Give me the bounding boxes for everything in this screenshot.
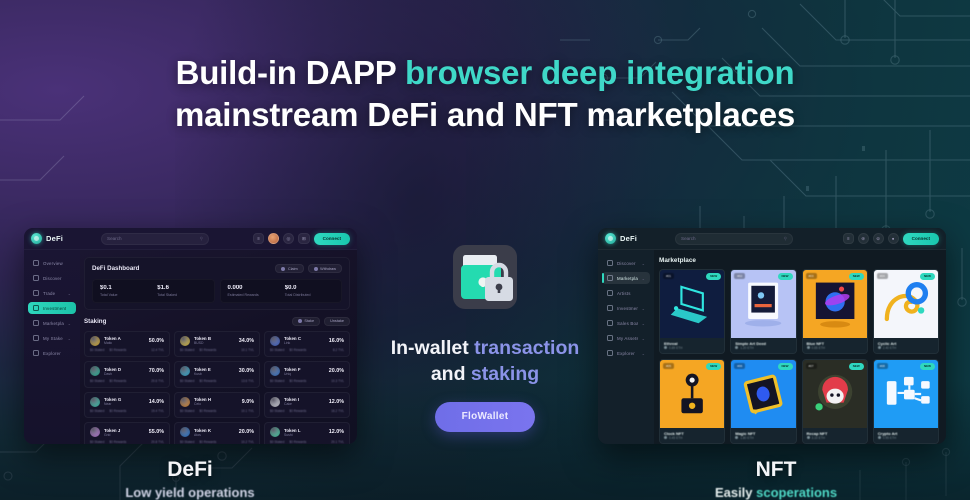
nft-card-grid: #01NEWEthreal0.89 ETH#02NEWSimple Art De… (659, 269, 939, 444)
token-coin-icon (270, 366, 280, 376)
headline: Build-in DAPP browser deep integration m… (0, 52, 970, 136)
defi-staking-actions: Stake Unstake (292, 317, 350, 326)
token-rewards: $0 Rewards (289, 440, 306, 444)
defi-withdraw-button[interactable]: Withdraw (308, 264, 342, 273)
stake-icon (298, 319, 302, 323)
center-feature-block: In-wallet transaction and staking FloWal… (381, 243, 589, 432)
token-coin-icon (270, 336, 280, 346)
nft-section-title: Marketplace (659, 257, 939, 264)
token-coin-icon (180, 397, 190, 407)
nft-card-badge: NEW (920, 273, 935, 280)
eth-icon (807, 436, 810, 439)
nft-sidebar-item-explorer[interactable]: Explorer⌄ (602, 347, 650, 359)
eth-icon (878, 346, 881, 349)
nft-card[interactable]: #01NEWEthreal0.89 ETH (659, 269, 725, 354)
nav-item-label: Sales Board (617, 321, 638, 326)
nft-card-footer: Crypto Art0.95 ETH (874, 428, 938, 443)
nft-sidebar-item-marketplace[interactable]: Marketplace⌄ (602, 272, 650, 284)
defi-token-card[interactable]: Token CLink16.0%$0 Staked$0 Rewards8.2 T… (264, 331, 350, 358)
nft-card-price-value: 0.65 ETH (812, 346, 825, 350)
nft-card-tag: #08 (877, 363, 888, 369)
token-apy: 20.0% (239, 429, 254, 435)
nft-sidebar-item-my-assets[interactable]: My Assets⌄ (602, 332, 650, 344)
nft-main-content: Marketplace #01NEWEthreal0.89 ETH#02NEWS… (654, 250, 946, 444)
nft-card-artwork: #03NEW (803, 270, 867, 338)
nft-card-price: 3.10 ETH (807, 436, 863, 440)
nft-card-footer: Clock NFT0.45 ETH (660, 428, 724, 443)
nft-card[interactable]: #05NEWClock NFT0.45 ETH (659, 359, 725, 444)
nft-sidebar-item-investments[interactable]: Investments⌄ (602, 302, 650, 314)
nft-card-tag: #01 (663, 273, 674, 279)
nft-card-footer: Ethreal0.89 ETH (660, 338, 724, 353)
token-names: Token ICake (284, 397, 325, 406)
nft-browser-mockup[interactable]: DeFi Search ⚲ ≡ ⊛ ⊚ ● Connect Discover⌄M… (598, 228, 946, 444)
defi-token-card[interactable]: Token HCelo9.0%$0 Staked$0 Rewards10.1 T… (174, 392, 260, 419)
user-icon (607, 290, 613, 296)
token-tvl: 10.1 TVL (241, 409, 254, 413)
token-names: Token EKusb (194, 367, 235, 376)
nft-card-price: 0.89 ETH (664, 346, 720, 350)
token-card-footer: $0 Staked$0 Rewards16.2 TVL (270, 409, 344, 413)
grid-icon (33, 260, 39, 266)
nav-item-label: Overview (43, 261, 63, 266)
nft-caption-subtitle-white: Easily (715, 485, 756, 500)
nav-item-label: Explorer (43, 351, 61, 356)
token-coin-icon (90, 336, 100, 346)
token-names: Token AMatic (104, 336, 145, 345)
token-card-header: Token LSushi12.0% (270, 427, 344, 437)
nft-card-footer: Cyclic Art2.40 ETH (874, 338, 938, 353)
nft-bell-icon[interactable]: ⊚ (873, 233, 884, 244)
nft-card-artwork: #06NEW (731, 360, 795, 428)
token-tvl: 20.8 TVL (151, 440, 164, 444)
nft-sidebar-item-sales-board[interactable]: Sales Board⌄ (602, 317, 650, 329)
token-tvl: 12.4 TVL (151, 348, 164, 352)
nav-item-label: Marketplace (617, 276, 638, 281)
token-names: Token HCelo (194, 397, 238, 406)
defi-claim-label: Claim (288, 267, 298, 271)
token-staked: $0 Staked (180, 409, 194, 413)
defi-stat-group-left: $0.1 Total Value $1.6 Total Staked (92, 279, 215, 303)
nft-card-artwork: #05NEW (660, 360, 724, 428)
token-coin-icon (270, 397, 280, 407)
defi-dashboard-title: DeFi Dashboard (92, 265, 139, 272)
nft-topbar-actions: ≡ ⊛ ⊚ ● Connect (843, 233, 939, 245)
nft-search-input[interactable]: Search ⚲ (675, 233, 793, 245)
token-card-footer: $0 Staked$0 Rewards8.2 TVL (270, 348, 344, 352)
lamp-art (660, 360, 724, 428)
nft-card-artwork: #02NEW (731, 270, 795, 338)
token-names: Token LSushi (284, 428, 325, 437)
coins-icon (33, 305, 39, 311)
token-card-header: Token KAtos20.0% (180, 427, 254, 437)
nft-card-footer: Recap NFT3.10 ETH (803, 428, 867, 443)
token-staked: $0 Staked (90, 379, 104, 383)
token-apy: 55.0% (149, 429, 164, 435)
defi-token-card[interactable]: Token BBUSD34.0%$0 Staked$0 Rewards10.1 … (174, 331, 260, 358)
nft-user-icon[interactable]: ● (888, 233, 899, 244)
token-names: Token BBUSD (194, 336, 235, 345)
nft-card-tag: #04 (877, 273, 888, 279)
search-icon (33, 350, 39, 356)
token-symbol: Dash (104, 372, 145, 376)
token-card-header: Token GNear14.0% (90, 397, 164, 407)
token-card-header: Token EKusb30.0% (180, 366, 254, 376)
nft-sidebar-item-discover[interactable]: Discover⌄ (602, 257, 650, 269)
defi-sidebar-item-overview[interactable]: Overview (28, 257, 76, 269)
defi-dashboard-header: DeFi Dashboard Claim Withdraw (92, 264, 342, 273)
nft-brand[interactable]: DeFi (605, 233, 661, 244)
token-names: Token GNear (104, 397, 145, 406)
token-apy: 12.0% (329, 429, 344, 435)
defi-main-content: DeFi Dashboard Claim Withdraw (80, 250, 357, 444)
token-card-footer: $0 Staked$0 Rewards20.1 TVL (270, 440, 344, 444)
nft-search-placeholder: Search (681, 236, 696, 241)
nft-card-badge: NEW (706, 363, 721, 370)
nft-card-price-value: 1.80 ETH (740, 436, 753, 440)
token-staked: $0 Staked (90, 409, 104, 413)
nft-card-price-value: 3.10 ETH (812, 436, 825, 440)
chevron-down-icon: ⌄ (642, 306, 645, 311)
token-apy: 9.0% (242, 399, 254, 405)
defi-stake-button[interactable]: Stake (292, 317, 320, 326)
defi-token-card[interactable]: Token KAtos20.0%$0 Staked$0 Rewards10.2 … (174, 422, 260, 444)
defi-stat-label: Total Value (100, 293, 149, 297)
nft-logo-icon (605, 233, 616, 244)
defi-caption-title: DeFi (100, 458, 280, 482)
token-coin-icon (270, 427, 280, 437)
token-symbol: Link (284, 341, 325, 345)
planet-art (803, 270, 867, 338)
compass-icon (33, 275, 39, 281)
network-art (874, 360, 938, 428)
nft-card-price: 1.20 ETH (735, 346, 791, 350)
token-card-footer: $0 Staked$0 Rewards10.1 TVL (180, 348, 254, 352)
defi-caption: DeFi Low yield operations (100, 458, 280, 500)
defi-sidebar-item-my-stake[interactable]: My Stake⌄ (28, 332, 76, 344)
nft-card-price: 0.95 ETH (878, 436, 934, 440)
nft-card-badge: NEW (706, 273, 721, 280)
nft-brand-label: DeFi (620, 234, 637, 243)
defi-sidebar-item-investment[interactable]: Investment (28, 302, 76, 314)
compass-icon (607, 260, 613, 266)
token-card-footer: $0 Staked$0 Rewards20.6 TVL (90, 379, 164, 383)
chevron-down-icon: ⌄ (642, 276, 645, 281)
defi-body: OverviewDiscoverTrade⌄InvestmentMarketpl… (24, 250, 357, 444)
token-card-header: Token AMatic50.0% (90, 336, 164, 346)
frame-art (731, 270, 795, 338)
lock-icon (33, 335, 39, 341)
defi-dashboard-actions: Claim Withdraw (275, 264, 342, 273)
nft-card-price-value: 2.40 ETH (883, 346, 896, 350)
nft-body: Discover⌄Marketplace⌄ArtistsInvestments⌄… (598, 250, 946, 444)
store-icon (33, 320, 39, 326)
token-names: Token CLink (284, 336, 325, 345)
defi-staking-header: Staking Stake Unstake (84, 317, 350, 326)
swirl-art (874, 270, 938, 338)
nft-card-tag: #05 (663, 363, 674, 369)
token-rewards: $0 Rewards (109, 409, 126, 413)
nft-sidebar-item-artists[interactable]: Artists (602, 287, 650, 299)
nft-card-price: 1.80 ETH (735, 436, 791, 440)
token-symbol: Cake (284, 402, 325, 406)
token-names: Token KAtos (194, 428, 235, 437)
defi-stake-label: Stake (304, 319, 314, 323)
defi-sidebar-item-trade[interactable]: Trade⌄ (28, 287, 76, 299)
nft-card[interactable]: #03NEWBlue NFT0.65 ETH (802, 269, 868, 354)
defi-token-card[interactable]: Token EKusb30.0%$0 Staked$0 Rewards13.6 … (174, 361, 260, 388)
token-staked: $0 Staked (90, 348, 104, 352)
wallet-lock-icon (441, 243, 529, 321)
defi-token-card[interactable]: Token LSushi12.0%$0 Staked$0 Rewards20.1… (264, 422, 350, 444)
eth-icon (735, 346, 738, 349)
defi-token-card[interactable]: Token GNear14.0%$0 Staked$0 Rewards19.4 … (84, 392, 170, 419)
defi-dashboard-card: DeFi Dashboard Claim Withdraw (84, 257, 350, 310)
token-names: Token FUniq (284, 367, 325, 376)
nav-item-label: Discover (617, 261, 636, 266)
nft-card-price: 0.45 ETH (664, 436, 720, 440)
token-coin-icon (90, 397, 100, 407)
nav-item-label: Marketplace (43, 321, 64, 326)
token-staked: $0 Staked (90, 440, 104, 444)
token-tvl: 20.6 TVL (151, 379, 164, 383)
nft-card-price-value: 0.89 ETH (669, 346, 682, 350)
nft-card[interactable]: #06NEWMagic NFT1.80 ETH (730, 359, 796, 444)
nft-card-badge: NEW (849, 273, 864, 280)
defi-stat-group-right: 0.000 Estimated Rewards $0.0 Total Distr… (220, 279, 343, 303)
nft-card-artwork: #04NEW (874, 270, 938, 338)
token-names: Token DDash (104, 367, 145, 376)
headline-line-1-white: Build-in DAPP (176, 54, 405, 91)
center-caption-white-2: and (431, 363, 471, 385)
nft-sidebar: Discover⌄Marketplace⌄ArtistsInvestments⌄… (598, 250, 654, 444)
defi-brand-label: DeFi (46, 234, 63, 243)
token-tvl: 20.1 TVL (331, 440, 344, 444)
token-apy: 30.0% (239, 368, 254, 374)
token-card-header: Token FUniq20.0% (270, 366, 344, 376)
nft-card-badge: NEW (778, 273, 793, 280)
nft-caption-subtitle-teal: scoperations (756, 485, 837, 500)
nav-item-label: Investment (43, 306, 66, 311)
eth-icon (664, 436, 667, 439)
token-card-header: Token CLink16.0% (270, 336, 344, 346)
defi-token-card[interactable]: Token ICake12.0%$0 Staked$0 Rewards16.2 … (264, 392, 350, 419)
defi-stats-row: $0.1 Total Value $1.6 Total Staked 0.000… (92, 279, 342, 303)
nft-connect-button[interactable]: Connect (903, 233, 939, 245)
chart-icon (607, 305, 613, 311)
defi-token-card[interactable]: Token DDash70.0%$0 Staked$0 Rewards20.6 … (84, 361, 170, 388)
defi-unstake-label: Unstake (330, 319, 344, 323)
defi-grid-icon[interactable]: ⊞ (298, 233, 310, 244)
token-tvl: 10.1 TVL (241, 348, 254, 352)
token-symbol: Celo (194, 402, 238, 406)
nft-settings-icon[interactable]: ⊛ (858, 233, 869, 244)
token-staked: $0 Staked (270, 379, 284, 383)
token-symbol: Grid (104, 433, 145, 437)
defi-sidebar: OverviewDiscoverTrade⌄InvestmentMarketpl… (24, 250, 80, 444)
token-staked: $0 Staked (180, 348, 194, 352)
nft-card-price: 0.65 ETH (807, 346, 863, 350)
flowallet-cta-button[interactable]: FloWallet (435, 402, 535, 432)
token-rewards: $0 Rewards (289, 409, 306, 413)
defi-stat-label: Total Distributed (285, 293, 334, 297)
defi-notification-icon[interactable]: ◎ (283, 233, 294, 244)
token-apy: 20.0% (329, 368, 344, 374)
defi-stat-value: $0.1 (100, 285, 149, 291)
nft-card-price: 2.40 ETH (878, 346, 934, 350)
nft-card[interactable]: #02NEWSimple Art Deed1.20 ETH (730, 269, 796, 354)
nft-card-footer: Blue NFT0.65 ETH (803, 338, 867, 353)
token-rewards: $0 Rewards (289, 379, 306, 383)
nav-item-label: Artists (617, 291, 631, 296)
token-rewards: $0 Rewards (289, 348, 306, 352)
defi-stat-value: 0.000 (228, 285, 277, 291)
token-apy: 34.0% (239, 338, 254, 344)
nft-card-badge: NEW (849, 363, 864, 370)
center-caption-white-1: In-wallet (391, 337, 474, 359)
defi-menu-button[interactable]: ≡ (253, 233, 264, 244)
token-staked: $0 Staked (270, 409, 284, 413)
defi-search-input[interactable]: Search ⚲ (101, 233, 209, 245)
defi-token-grid: Token AMatic50.0%$0 Staked$0 Rewards12.4… (84, 331, 350, 445)
token-symbol: Atos (194, 433, 235, 437)
headline-line-2: mainstream DeFi and NFT marketplaces (0, 94, 970, 136)
token-coin-icon (180, 366, 190, 376)
token-staked: $0 Staked (180, 440, 194, 444)
search-icon: ⚲ (784, 236, 787, 242)
token-coin-icon (90, 427, 100, 437)
defi-unstake-button[interactable]: Unstake (324, 317, 350, 326)
token-card-footer: $0 Staked$0 Rewards20.8 TVL (90, 440, 164, 444)
nft-topbar: DeFi Search ⚲ ≡ ⊛ ⊚ ● Connect (598, 228, 946, 250)
token-tvl: 16.2 TVL (331, 409, 344, 413)
eth-icon (664, 346, 667, 349)
defi-stat-label: Total Staked (157, 293, 206, 297)
folder-icon (607, 335, 613, 341)
nft-card-tag: #07 (806, 363, 817, 369)
token-tvl: 10.3 TVL (331, 379, 344, 383)
token-card-header: Token HCelo9.0% (180, 397, 254, 407)
token-symbol: Kusb (194, 372, 235, 376)
headline-line-1-teal: browser deep integration (405, 54, 794, 91)
eth-icon (878, 436, 881, 439)
nav-item-label: My Stake (43, 336, 63, 341)
chevron-down-icon: ⌄ (642, 351, 645, 356)
token-names: Token JGrid (104, 428, 145, 437)
token-coin-icon (180, 336, 190, 346)
tag-icon (607, 320, 613, 326)
nft-card[interactable]: #04NEWCyclic Art2.40 ETH (873, 269, 939, 354)
token-symbol: Near (104, 402, 145, 406)
defi-sidebar-item-discover[interactable]: Discover (28, 272, 76, 284)
token-card-footer: $0 Staked$0 Rewards12.4 TVL (90, 348, 164, 352)
token-symbol: Uniq (284, 372, 325, 376)
center-caption: In-wallet transaction and staking (381, 335, 589, 388)
nft-menu-button[interactable]: ≡ (843, 233, 854, 244)
nft-card-price-value: 1.20 ETH (740, 346, 753, 350)
defi-stat-value: $1.6 (157, 285, 206, 291)
token-tvl: 19.4 TVL (151, 409, 164, 413)
defi-sidebar-item-explorer[interactable]: Explorer (28, 347, 76, 359)
eth-icon (735, 436, 738, 439)
laptop-art (660, 270, 724, 338)
nft-card-artwork: #07NEW (803, 360, 867, 428)
defi-token-card[interactable]: Token AMatic50.0%$0 Staked$0 Rewards12.4… (84, 331, 170, 358)
token-card-footer: $0 Staked$0 Rewards19.4 TVL (90, 409, 164, 413)
defi-logo-icon (31, 233, 42, 244)
token-card-footer: $0 Staked$0 Rewards10.1 TVL (180, 409, 254, 413)
nft-caption-subtitle: Easily scoperations (686, 485, 866, 500)
center-caption-blue-1: transaction (474, 337, 579, 359)
nft-card-tag: #02 (734, 273, 745, 279)
nft-card[interactable]: #08NEWCrypto Art0.95 ETH (873, 359, 939, 444)
headline-line-1: Build-in DAPP browser deep integration (0, 52, 970, 94)
defi-avatar[interactable] (268, 233, 279, 244)
nft-card-tag: #06 (734, 363, 745, 369)
defi-browser-mockup[interactable]: DeFi Search ⚲ ≡ ◎ ⊞ Connect OverviewDisc… (24, 228, 357, 444)
eth-icon (807, 346, 810, 349)
token-coin-icon (90, 366, 100, 376)
token-card-footer: $0 Staked$0 Rewards13.6 TVL (180, 379, 254, 383)
chevron-down-icon: ⌄ (642, 261, 645, 266)
chevron-down-icon: ⌄ (642, 321, 645, 326)
defi-stat-label: Estimated Rewards (228, 293, 277, 297)
defi-claim-button[interactable]: Claim (275, 264, 303, 273)
nft-caption-title: NFT (686, 458, 866, 482)
nft-card-artwork: #08NEW (874, 360, 938, 428)
search-icon: ⚲ (200, 236, 203, 242)
token-symbol: Sushi (284, 433, 325, 437)
chevron-down-icon: ⌄ (642, 336, 645, 341)
nav-item-label: Discover (43, 276, 62, 281)
defi-sidebar-item-marketplace[interactable]: Marketplace⌄ (28, 317, 76, 329)
token-card-footer: $0 Staked$0 Rewards10.2 TVL (180, 440, 254, 444)
defi-connect-button[interactable]: Connect (314, 233, 350, 245)
token-card-header: Token JGrid55.0% (90, 427, 164, 437)
nft-card[interactable]: #07NEWRecap NFT3.10 ETH (802, 359, 868, 444)
defi-search-placeholder: Search (107, 236, 122, 241)
token-rewards: $0 Rewards (109, 440, 126, 444)
defi-stat: 0.000 Estimated Rewards (228, 285, 277, 297)
defi-brand[interactable]: DeFi (31, 233, 87, 244)
token-rewards: $0 Rewards (199, 348, 216, 352)
swap-icon (33, 290, 39, 296)
defi-caption-subtitle: Low yield operations (100, 485, 280, 500)
token-rewards: $0 Rewards (109, 348, 126, 352)
token-tvl: 13.6 TVL (241, 379, 254, 383)
token-tvl: 10.2 TVL (241, 440, 254, 444)
token-card-header: Token BBUSD34.0% (180, 336, 254, 346)
token-symbol: Matic (104, 341, 145, 345)
nft-card-badge: NEW (778, 363, 793, 370)
defi-withdraw-label: Withdraw (320, 267, 336, 271)
chevron-down-icon: ⌄ (68, 291, 71, 296)
defi-token-card[interactable]: Token JGrid55.0%$0 Staked$0 Rewards20.8 … (84, 422, 170, 444)
defi-stat-value: $0.0 (285, 285, 334, 291)
claim-icon (281, 267, 285, 271)
token-apy: 50.0% (149, 338, 164, 344)
nft-card-footer: Simple Art Deed1.20 ETH (731, 338, 795, 353)
token-staked: $0 Staked (270, 348, 284, 352)
nft-card-price-value: 0.45 ETH (669, 436, 682, 440)
token-symbol: BUSD (194, 341, 235, 345)
token-rewards: $0 Rewards (199, 440, 216, 444)
token-apy: 14.0% (149, 399, 164, 405)
defi-token-card[interactable]: Token FUniq20.0%$0 Staked$0 Rewards10.3 … (264, 361, 350, 388)
chevron-down-icon: ⌄ (68, 321, 71, 326)
defi-stat: $0.1 Total Value (100, 285, 149, 297)
nav-item-label: Investments (617, 306, 638, 311)
